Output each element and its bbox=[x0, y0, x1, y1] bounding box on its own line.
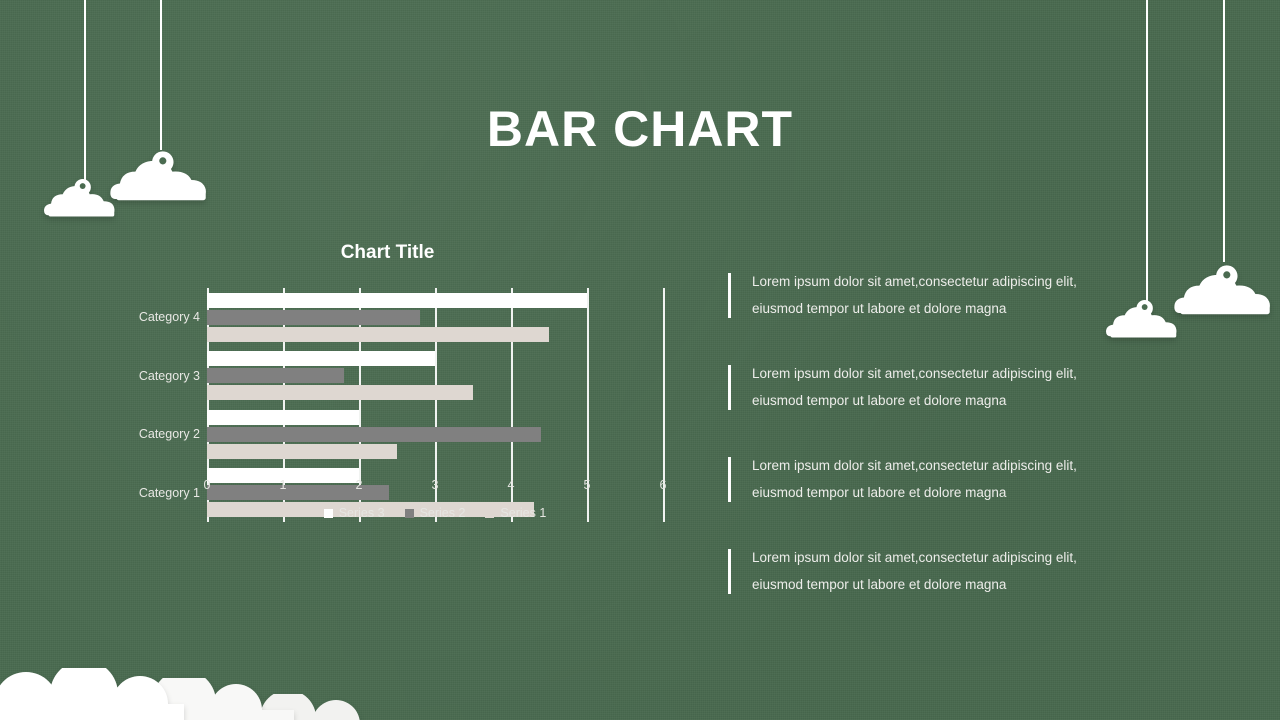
axis-tick-label: 4 bbox=[508, 478, 515, 492]
bar-series-3 bbox=[207, 293, 587, 308]
axis-tick-label: 3 bbox=[432, 478, 439, 492]
text-block: Lorem ipsum dolor sit amet,consectetur a… bbox=[728, 452, 1128, 506]
legend-item[interactable]: Series 1 bbox=[485, 506, 546, 520]
accent-bar bbox=[728, 457, 731, 502]
category-axis: Category 1Category 2Category 3Category 4 bbox=[115, 288, 203, 522]
chart-title: Chart Title bbox=[115, 242, 660, 264]
accent-bar bbox=[728, 365, 731, 410]
bar-series-1 bbox=[207, 385, 473, 400]
legend-label: Series 1 bbox=[500, 506, 546, 520]
bar-series-2 bbox=[207, 310, 420, 325]
category-label: Category 3 bbox=[112, 369, 200, 383]
page-title: BAR CHART bbox=[0, 100, 1280, 158]
legend-label: Series 2 bbox=[420, 506, 466, 520]
text-block: Lorem ipsum dolor sit amet,consectetur a… bbox=[728, 360, 1128, 414]
legend-swatch-icon bbox=[405, 509, 414, 518]
slide-canvas: BAR CHART Chart Title Category 1Category… bbox=[0, 0, 1280, 720]
chart-legend: Series 3Series 2Series 1 bbox=[207, 506, 663, 520]
category-label: Category 2 bbox=[112, 427, 200, 441]
text-block: Lorem ipsum dolor sit amet,consectetur a… bbox=[728, 544, 1128, 598]
axis-tick-label: 2 bbox=[356, 478, 363, 492]
category-label: Category 1 bbox=[112, 486, 200, 500]
legend-label: Series 3 bbox=[339, 506, 385, 520]
text-block: Lorem ipsum dolor sit amet,consectetur a… bbox=[728, 268, 1128, 322]
cloud-bottom-left-icon bbox=[0, 668, 190, 720]
text-block-body: Lorem ipsum dolor sit amet,consectetur a… bbox=[752, 360, 1120, 414]
text-block-body: Lorem ipsum dolor sit amet,consectetur a… bbox=[752, 544, 1120, 598]
value-axis: 0123456 bbox=[207, 478, 663, 500]
bar-series-2 bbox=[207, 368, 344, 383]
axis-tick-label: 6 bbox=[660, 478, 667, 492]
category-label: Category 4 bbox=[112, 310, 200, 324]
text-block-body: Lorem ipsum dolor sit amet,consectetur a… bbox=[752, 452, 1120, 506]
cloud-top-right-large-icon bbox=[1172, 257, 1280, 324]
legend-item[interactable]: Series 3 bbox=[324, 506, 385, 520]
legend-item[interactable]: Series 2 bbox=[405, 506, 466, 520]
bar-series-3 bbox=[207, 351, 435, 366]
axis-tick-label: 1 bbox=[280, 478, 287, 492]
bar-series-1 bbox=[207, 444, 397, 459]
legend-swatch-icon bbox=[485, 509, 494, 518]
axis-tick-label: 5 bbox=[584, 478, 591, 492]
bar-chart: Chart Title Category 1Category 2Category… bbox=[115, 238, 675, 588]
accent-bar bbox=[728, 549, 731, 594]
axis-tick-label: 0 bbox=[204, 478, 211, 492]
bar-series-1 bbox=[207, 327, 549, 342]
accent-bar bbox=[728, 273, 731, 318]
text-blocks-column: Lorem ipsum dolor sit amet,consectetur a… bbox=[728, 268, 1128, 636]
legend-swatch-icon bbox=[324, 509, 333, 518]
bar-series-2 bbox=[207, 427, 541, 442]
bar-series-3 bbox=[207, 410, 359, 425]
text-block-body: Lorem ipsum dolor sit amet,consectetur a… bbox=[752, 268, 1120, 322]
